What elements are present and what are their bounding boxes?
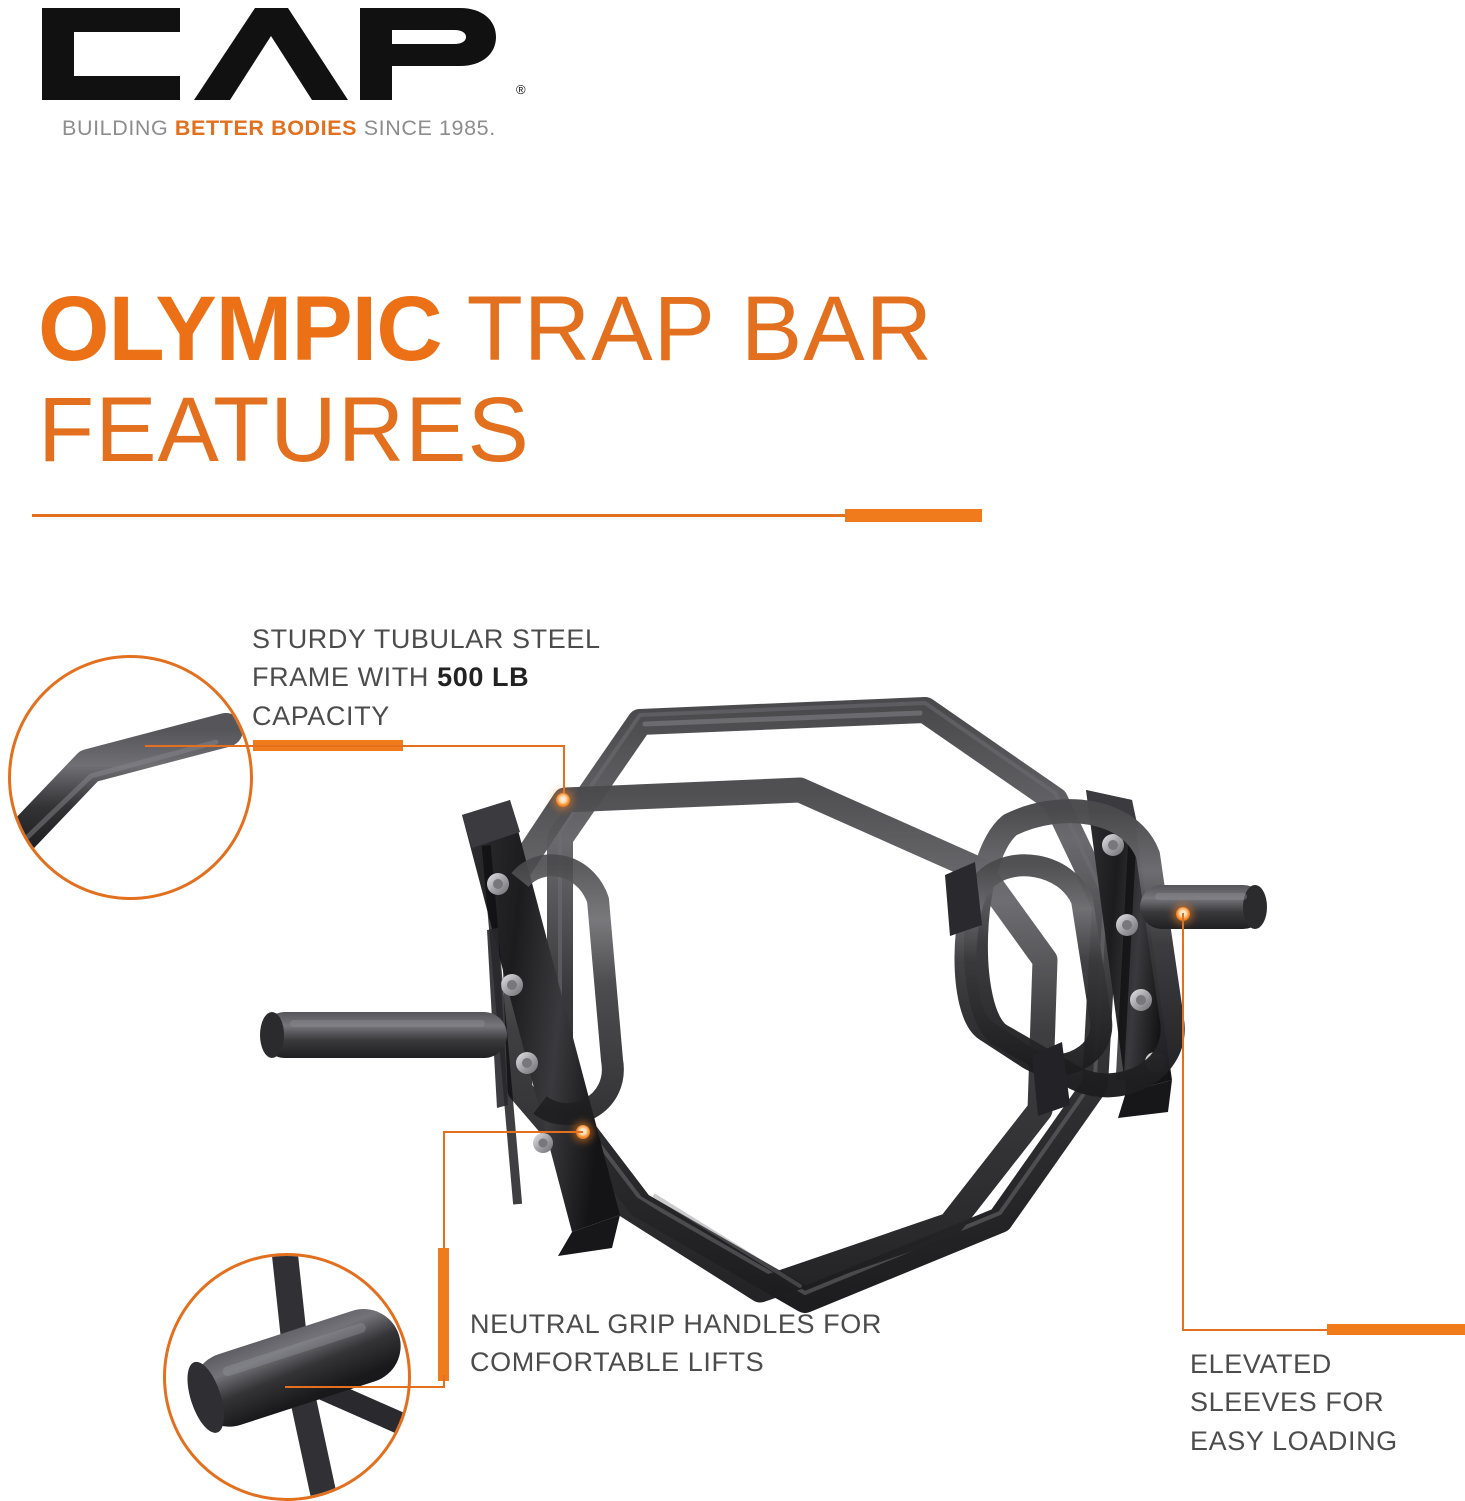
brand-logo-block: ® BUILDING BETTER BODIES SINCE 1985.: [30, 8, 550, 100]
tagline-part-2: SINCE 1985.: [357, 116, 496, 140]
leader-thin-2b: [443, 1131, 445, 1251]
callout-1-part-1: STURDY TUBULAR STEEL FRAME WITH: [252, 624, 600, 692]
leader-thin-3: [1182, 913, 1184, 1331]
leader-dot-1: [556, 793, 570, 807]
page-title: OLYMPIC TRAP BAR FEATURES: [38, 286, 1138, 475]
headline-line-1: OLYMPIC TRAP BAR: [38, 286, 1138, 373]
callout-1-part-2: CAPACITY: [252, 701, 390, 731]
leader-thin-2: [443, 1131, 583, 1133]
tagline-emphasis: BETTER BODIES: [175, 116, 357, 140]
title-divider: [32, 509, 982, 523]
divider-thin-rule: [32, 514, 982, 517]
leader-thin-2d: [285, 1386, 445, 1388]
right-sleeve-plate: [1086, 790, 1172, 1118]
headline-line-2-text: FEATURES: [38, 379, 530, 481]
right-elevated-sleeve: [1140, 885, 1267, 929]
leader-thin-1b: [563, 745, 565, 800]
leader-accent-3: [1327, 1324, 1465, 1335]
callout-1-emphasis: 500 LB: [437, 662, 529, 692]
callout-neutral-grip: NEUTRAL GRIP HANDLES FOR COMFORTABLE LIF…: [470, 1305, 890, 1382]
brand-tagline: BUILDING BETTER BODIES SINCE 1985.: [62, 116, 496, 141]
leader-thin-1: [145, 745, 565, 747]
cap-logo-mark: [30, 8, 500, 100]
leader-accent-2: [438, 1248, 449, 1381]
left-sleeve-plate: [462, 800, 620, 1256]
registered-trademark-icon: ®: [516, 82, 526, 97]
leader-thin-3b: [1182, 1329, 1327, 1331]
headline-light-words: TRAP BAR: [442, 278, 933, 380]
callout-elevated-sleeves: ELEVATED SLEEVES FOR EASY LOADING: [1190, 1345, 1465, 1460]
divider-thick-accent: [845, 509, 982, 522]
tagline-part-1: BUILDING: [62, 116, 175, 140]
left-elevated-sleeve: [260, 1012, 507, 1058]
headline-bold-word: OLYMPIC: [38, 278, 442, 380]
callout-tubular-steel: STURDY TUBULAR STEEL FRAME WITH 500 LB C…: [252, 620, 672, 735]
zoom-detail-tubular-bend: [8, 655, 253, 900]
zoom-detail-handle-end: [163, 1253, 411, 1501]
headline-line-2: FEATURES: [38, 387, 1138, 474]
